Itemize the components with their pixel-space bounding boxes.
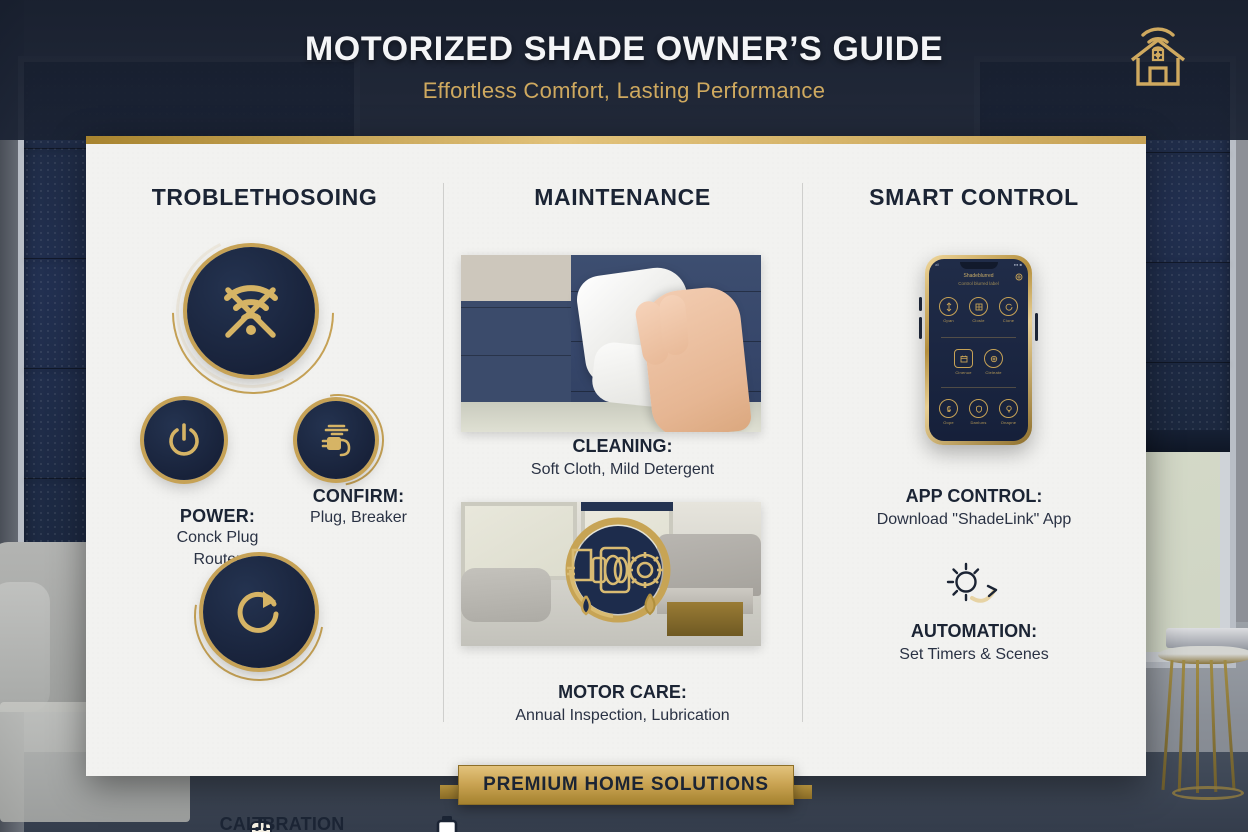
plug-icon-badge[interactable] — [297, 401, 375, 479]
app-button-label: Danluns — [970, 420, 986, 425]
caption-cleaning: CLEANING: Soft Cloth, Mild Detergent — [443, 436, 802, 479]
power-icon — [166, 422, 202, 458]
app-button-label: Oope — [943, 420, 954, 425]
app-divider — [941, 387, 1016, 388]
app-button-label: Closle — [972, 318, 984, 323]
shield-icon — [969, 399, 988, 418]
refresh-icon-badge[interactable] — [203, 556, 315, 668]
guide-card: TROBLETHOSOING — [86, 136, 1146, 776]
app-button-danluns[interactable]: Danluns — [969, 399, 988, 425]
column-title-smart-control: SMART CONTROL — [802, 184, 1146, 211]
app-button-oope[interactable]: Oope — [939, 399, 958, 425]
app-button-schedule[interactable]: Cinenue — [954, 349, 973, 375]
confirm-subtext: Plug, Breaker — [276, 507, 441, 529]
power-subtext-line1: Conck Plug — [130, 527, 305, 549]
automation-heading: AUTOMATION: — [802, 621, 1146, 642]
smart-home-wifi-icon — [1116, 8, 1200, 90]
footer-ribbon: PREMIUM HOME SOLUTIONS — [458, 765, 794, 805]
caption-motor-care: MOTOR CARE: Annual Inspection, Lubricati… — [443, 682, 802, 725]
column-smart-control: SMART CONTROL APP CONTROL: Download "Sha… — [802, 136, 1146, 211]
refresh-icon — [230, 583, 288, 641]
app-button-open[interactable]: Opan — [939, 297, 958, 323]
bulb-icon — [999, 399, 1018, 418]
app-button-row-3: Oope Danluns Onapne — [929, 399, 1028, 425]
footer-ribbon-text: PREMIUM HOME SOLUTIONS — [483, 774, 769, 796]
app-button-cycle[interactable]: Cione — [999, 297, 1018, 323]
label-confirm: CONFIRM: Plug, Breaker — [276, 486, 441, 529]
calibration-heading: CALIBRATION — [182, 814, 382, 832]
column-troubleshooting: TROBLETHOSOING — [86, 136, 443, 211]
app-title-line1: Shadeblurred — [929, 273, 1028, 279]
cleaning-subtext: Soft Cloth, Mild Detergent — [443, 461, 802, 479]
caption-automation: AUTOMATION: Set Timers & Scenes — [802, 621, 1146, 664]
stacked-books — [1166, 628, 1248, 648]
phone-notch — [960, 262, 998, 269]
dollar-icon — [939, 399, 958, 418]
app-button-label: Opan — [943, 318, 954, 323]
cleaning-heading: CLEANING: — [443, 436, 802, 457]
settings-gear-icon[interactable] — [1015, 273, 1023, 281]
app-control-heading: APP CONTROL: — [802, 486, 1146, 507]
app-button-settings[interactable]: Cleleate — [984, 349, 1003, 375]
app-button-label: Onapne — [1001, 420, 1016, 425]
app-button-close[interactable]: Closle — [969, 297, 988, 323]
confirm-heading: CONFIRM: — [276, 486, 441, 507]
plug-icon — [314, 421, 358, 459]
app-control-subtext: Download "ShadeLink" App — [802, 511, 1146, 529]
app-button-label: Cleleate — [985, 370, 1001, 375]
app-button-label: Cione — [1003, 318, 1014, 323]
app-button-label: Cinenue — [955, 370, 971, 375]
sofa-arm — [0, 582, 50, 712]
phone-screen: all ●● ■ Shadeblurred Control blurred la… — [929, 259, 1028, 441]
wifi-off-icon — [215, 280, 287, 342]
page-subtitle: Effortless Comfort, Lasting Performance — [0, 78, 1248, 104]
app-button-row-1: Opan Closle Cione — [929, 297, 1028, 323]
gear-icon — [984, 349, 1003, 368]
caption-app-control: APP CONTROL: Download "ShadeLink" App — [802, 486, 1146, 529]
motor-care-subtext: Annual Inspection, Lubrication — [443, 707, 802, 725]
app-button-row-2: Cinenue Cleleate — [929, 349, 1028, 375]
column-maintenance: MAINTENANCE CLEANING: Soft Cloth, Mild D… — [443, 136, 802, 211]
grid-icon — [969, 297, 988, 316]
calendar-icon — [954, 349, 973, 368]
motor-care-heading: MOTOR CARE: — [443, 682, 802, 703]
label-calibration: CALIBRATION Press Rce Batteries — [182, 814, 382, 832]
page-title: MOTORIZED SHADE OWNER’S GUIDE — [0, 30, 1248, 69]
power-icon-badge[interactable] — [144, 400, 224, 480]
cycle-icon — [999, 297, 1018, 316]
header-banner: MOTORIZED SHADE OWNER’S GUIDE Effortless… — [0, 0, 1248, 140]
wifi-off-icon-badge[interactable] — [187, 247, 315, 375]
battery-icon — [434, 814, 460, 832]
column-title-troubleshooting: TROBLETHOSOING — [86, 184, 443, 211]
smartphone-app-mockup[interactable]: all ●● ■ Shadeblurred Control blurred la… — [925, 255, 1032, 445]
side-table-ring — [1172, 786, 1244, 800]
hand-cleaning-shade-photo — [461, 255, 761, 432]
automation-subtext: Set Timers & Scenes — [802, 646, 1146, 664]
column-title-maintenance: MAINTENANCE — [443, 184, 802, 211]
motor-gear-emblem-icon — [553, 508, 683, 640]
app-button-onapne[interactable]: Onapne — [999, 399, 1018, 425]
sun-automation-icon — [942, 560, 1004, 614]
updown-icon — [939, 297, 958, 316]
motor-gear-livingroom-photo — [461, 502, 761, 646]
app-divider — [941, 337, 1016, 338]
app-title-line2: Control blurred label — [929, 281, 1028, 286]
